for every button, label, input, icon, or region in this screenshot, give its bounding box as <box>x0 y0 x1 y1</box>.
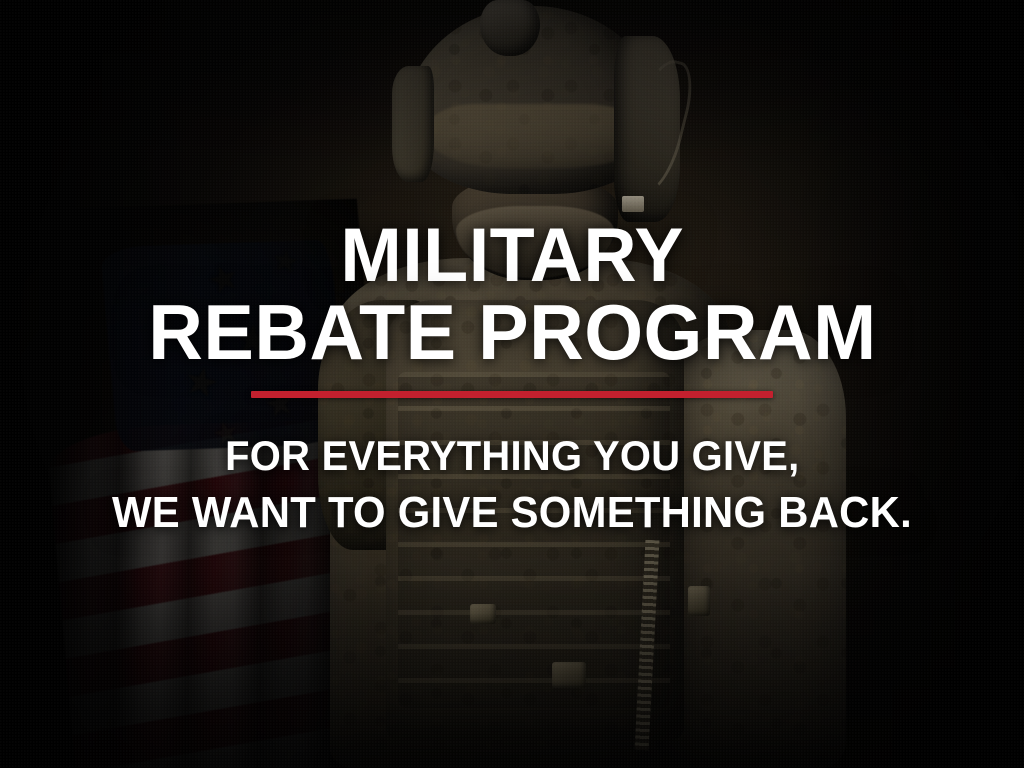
red-divider-rule <box>251 391 773 398</box>
headline-line-1: MILITARY <box>340 219 684 293</box>
military-rebate-banner: ★ ★ ★ ★ ★ ★ ★ ★ ★ <box>0 0 1024 768</box>
text-overlay: MILITARY REBATE PROGRAM FOR EVERYTHING Y… <box>0 0 1024 768</box>
subhead-line-1: FOR EVERYTHING YOU GIVE, <box>225 431 799 481</box>
headline-line-2: REBATE PROGRAM <box>148 295 876 371</box>
subhead-line-2: WE WANT TO GIVE SOMETHING BACK. <box>112 487 912 539</box>
